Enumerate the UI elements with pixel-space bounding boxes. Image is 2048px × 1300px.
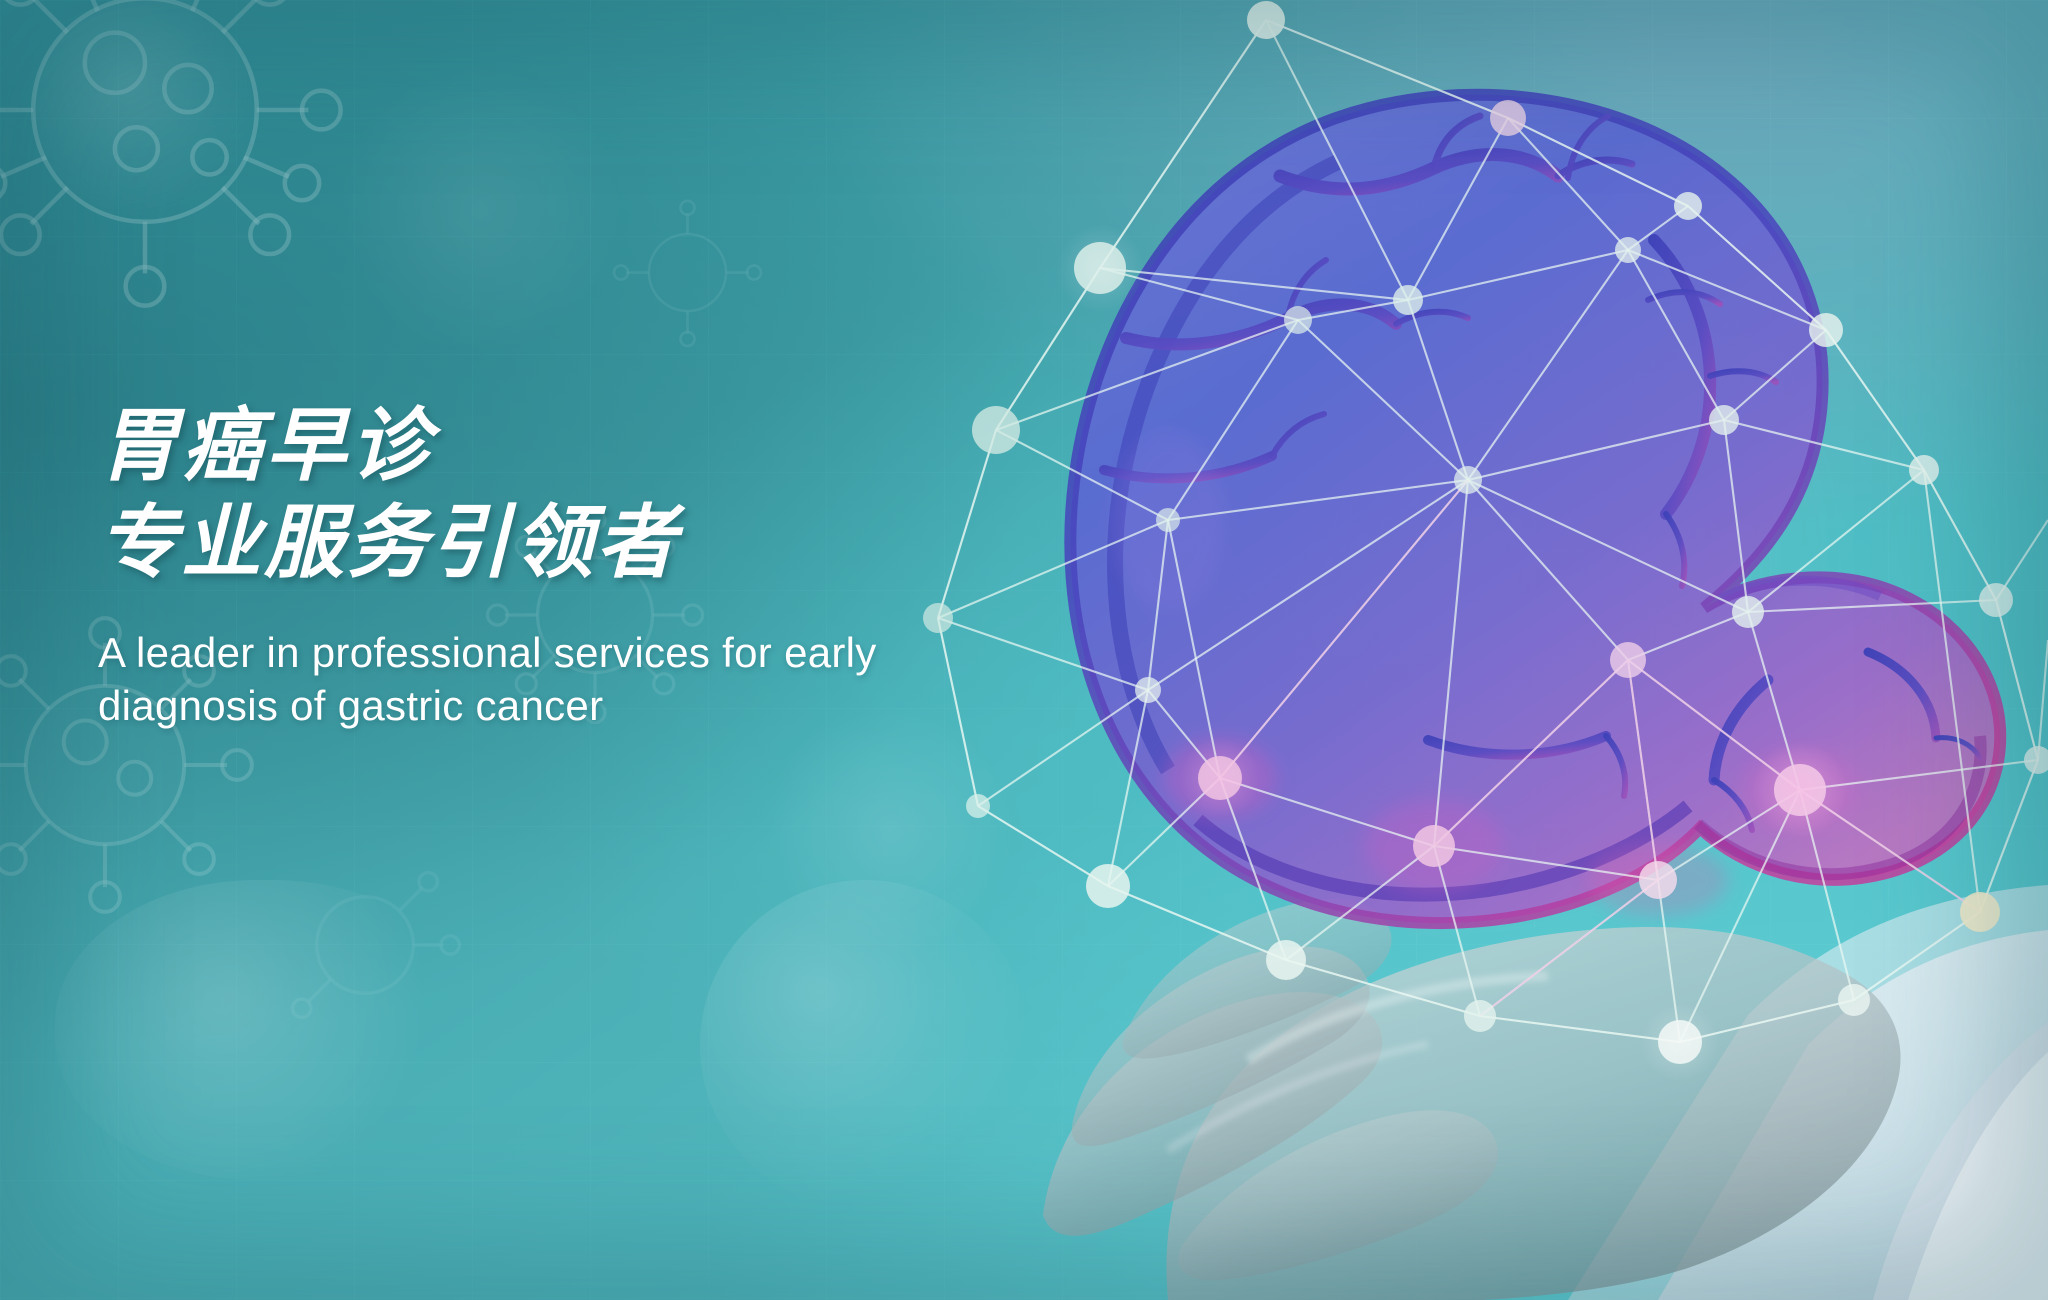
subheadline-line-2: diagnosis of gastric cancer [98, 679, 1088, 732]
headline-line-1: 胃癌早诊 [98, 398, 1098, 495]
banner-copy: 胃癌早诊 专业服务引领者 A leader in professional se… [98, 398, 1098, 732]
page-subtitle: A leader in professional services for ea… [98, 626, 1088, 733]
virus-icon [250, 830, 480, 1060]
virus-icon [0, 0, 360, 325]
page-title: 胃癌早诊 专业服务引领者 [98, 398, 1098, 592]
virus-icon [600, 185, 775, 360]
headline-line-2: 专业服务引领者 [98, 495, 1098, 592]
banner-root: 胃癌早诊 专业服务引领者 A leader in professional se… [0, 0, 2048, 1300]
subheadline-line-1: A leader in professional services for ea… [98, 626, 1088, 679]
